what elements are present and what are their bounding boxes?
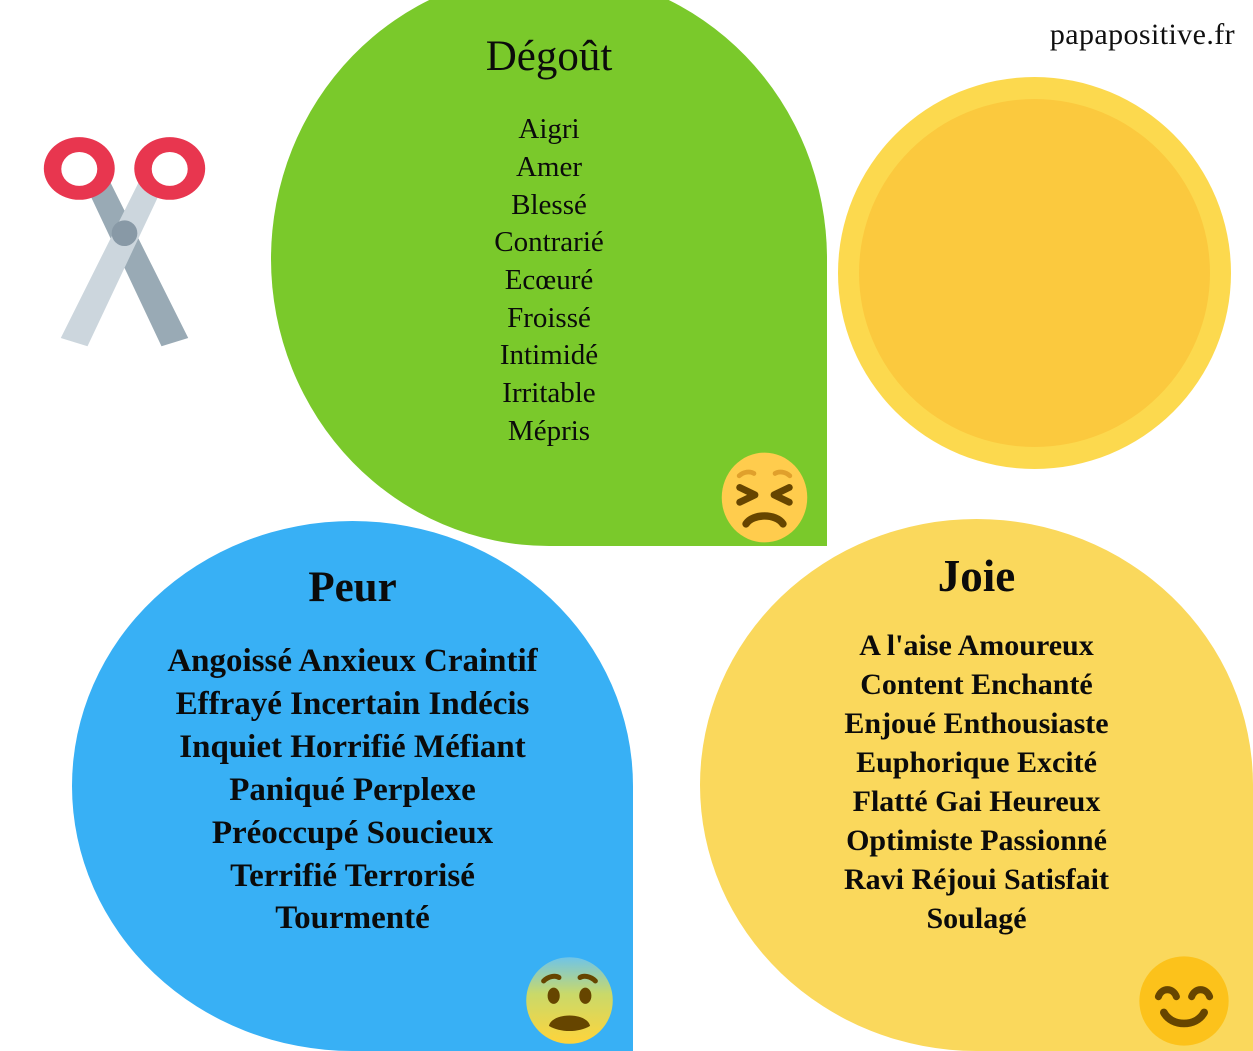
blank-emotion-bubble [838,77,1231,469]
list-item: Angoissé Anxieux Craintif [72,640,633,683]
list-item: A l'aise Amoureux [700,626,1253,665]
emotion-vocabulary-poster: papapositive.fr Dégoût Aigri Amer Blessé… [0,0,1253,1051]
degout-word-list: Aigri Amer Blessé Contrarié Ecœuré Frois… [271,111,827,450]
smiling-face-with-smiling-eyes-icon [1135,952,1233,1050]
list-item: Préoccupé Soucieux [72,812,633,855]
list-item: Irritable [271,375,827,413]
list-item: Amer [271,149,827,187]
joie-word-list: A l'aise Amoureux Content Enchanté Enjou… [700,626,1253,938]
list-item: Effrayé Incertain Indécis [72,683,633,726]
list-item: Froissé [271,300,827,338]
list-item: Contrarié [271,224,827,262]
list-item: Optimiste Passionné [700,821,1253,860]
list-item: Tourmenté [72,897,633,940]
list-item: Aigri [271,111,827,149]
list-item: Mépris [271,413,827,451]
list-item: Blessé [271,187,827,225]
blank-bubble-inner-ring [859,99,1210,447]
persevering-face-icon [717,450,812,545]
list-item: Inquiet Horrifié Méfiant [72,726,633,769]
peur-word-list: Angoissé Anxieux Craintif Effrayé Incert… [72,640,633,940]
list-item: Terrifié Terrorisé [72,855,633,898]
site-watermark: papapositive.fr [1050,18,1235,52]
scissors-icon [32,128,217,360]
list-item: Enjoué Enthousiaste [700,704,1253,743]
joie-title: Joie [700,553,1253,600]
list-item: Euphorique Excité [700,743,1253,782]
list-item: Soulagé [700,899,1253,938]
list-item: Paniqué Perplexe [72,769,633,812]
degout-title: Dégoût [271,34,827,79]
fearful-face-icon [522,953,617,1048]
list-item: Intimidé [271,337,827,375]
peur-title: Peur [72,565,633,610]
list-item: Content Enchanté [700,665,1253,704]
list-item: Flatté Gai Heureux [700,782,1253,821]
list-item: Ravi Réjoui Satisfait [700,860,1253,899]
list-item: Ecœuré [271,262,827,300]
